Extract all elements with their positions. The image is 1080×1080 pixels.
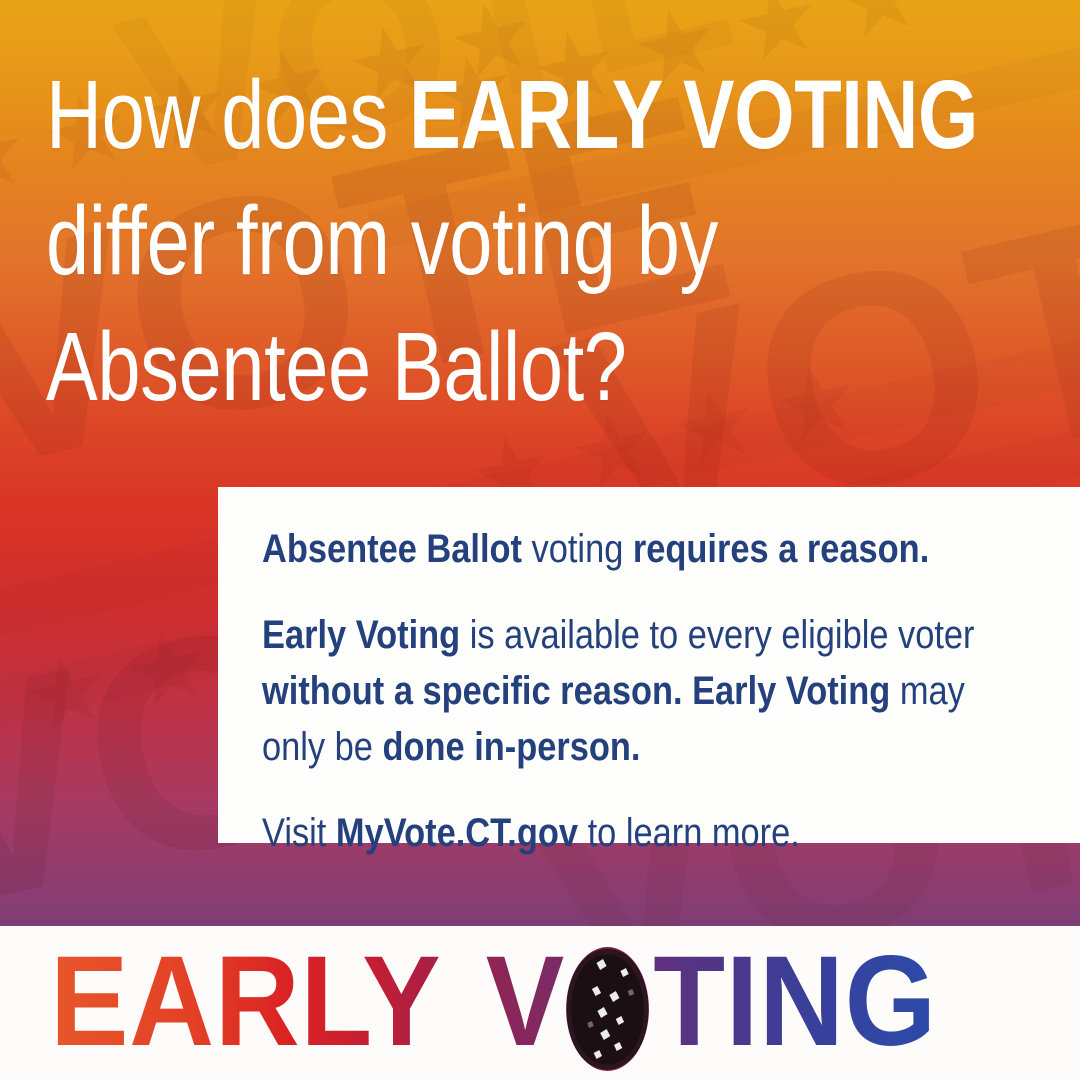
logo-letter-v: V: [486, 930, 565, 1073]
eligible-voter-text: is available to every eligible voter: [460, 613, 974, 657]
info-paragraph-visit: Visit MyVote.CT.gov to learn more.: [262, 805, 1032, 861]
requires-reason-emphasis: requires a reason.: [633, 527, 929, 571]
info-paragraph-early-voting: Early Voting is available to every eligi…: [262, 607, 1032, 775]
absentee-voting-text: voting: [522, 527, 633, 571]
in-person-emphasis: done in-person.: [382, 725, 640, 769]
no-specific-reason-emphasis: without a specific reason. Early Voting: [262, 669, 890, 713]
footer-logo-bar: EARLY V: [0, 926, 1080, 1080]
headline-line-1-plain: How does: [46, 60, 409, 169]
page-title: How does EARLY VOTING differ from voting…: [46, 52, 846, 430]
info-paragraph-absentee: Absentee Ballot voting requires a reason…: [262, 521, 1032, 577]
poster-canvas: VOTE VOTE VOTE VOTE VOTE How does EARLY …: [0, 0, 1080, 1080]
filled-ballot-bubble-icon: [563, 945, 651, 1073]
absentee-ballot-term: Absentee Ballot: [262, 527, 522, 571]
early-voting-term: Early Voting: [262, 613, 460, 657]
info-card: Absentee Ballot voting requires a reason…: [218, 487, 1080, 843]
visit-label: Visit: [262, 811, 336, 855]
logo-word-ting: TING: [653, 938, 937, 1066]
early-voting-logo-text: EARLY V: [50, 938, 937, 1066]
logo-spacer: [441, 930, 486, 1073]
star-icon: [833, 0, 927, 47]
headline-line-2: differ from voting by: [46, 178, 846, 304]
early-voting-logo: EARLY V: [50, 946, 1014, 1058]
headline-line-1-emphasis: EARLY VOTING: [409, 60, 978, 169]
headline-line-3: Absentee Ballot?: [46, 304, 846, 430]
myvote-website-link[interactable]: MyVote.CT.gov: [336, 811, 578, 855]
headline-line-1: How does EARLY VOTING: [46, 52, 846, 178]
learn-more-text: to learn more.: [578, 811, 800, 855]
logo-word-early: EARLY: [50, 930, 441, 1073]
